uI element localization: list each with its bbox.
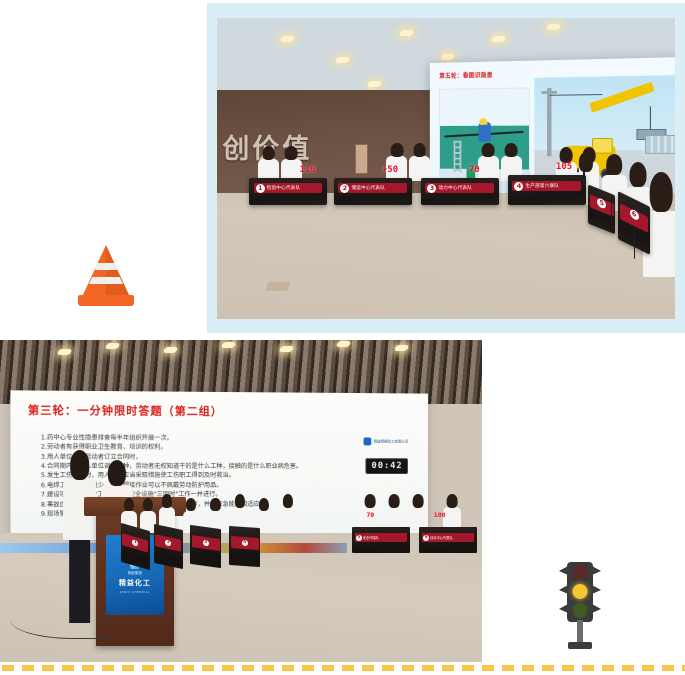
team-number: 5: [356, 535, 362, 541]
team-nameplate: 6: [620, 202, 648, 232]
corporate-logo: 精益精细化工有限公司: [364, 437, 408, 445]
divider-dash: [202, 665, 214, 671]
traffic-cone-icon: [76, 244, 136, 306]
team-desk: 3: [190, 525, 221, 568]
contestant: [280, 507, 296, 530]
ceiling-light: [105, 343, 120, 349]
cone-stripe-lower: [87, 277, 125, 284]
team-nameplate: 2 储运中心代表队: [338, 183, 407, 192]
divider-dash: [462, 665, 474, 671]
divider-dash: [602, 665, 614, 671]
traffic-light-red-lamp: [573, 565, 588, 580]
divider-dash: [322, 665, 334, 671]
team-nameplate: 4: [231, 536, 259, 550]
divider-dash: [162, 665, 174, 671]
contestant: [409, 156, 430, 180]
countdown-timer: 00:42: [366, 458, 409, 474]
team-score: 70: [469, 165, 480, 175]
divider-dash: [642, 665, 654, 671]
illustration-worker: [478, 122, 490, 142]
traffic-light-visor-right: [592, 566, 601, 575]
ceiling-light: [335, 57, 350, 63]
team-name: 动力中心代表队: [438, 185, 472, 191]
divider-dash: [562, 665, 574, 671]
team-name: 安全环保队: [363, 535, 379, 540]
team-nameplate: 3 动力中心代表队: [425, 183, 494, 192]
team-number: 3: [427, 184, 436, 193]
team-number: 2: [166, 539, 172, 546]
team-number: 2: [340, 184, 349, 193]
slide-line: 6.电焊工岗位作业量少，偶尔焊接作业可以不佩戴劳动防护用品。: [41, 480, 416, 490]
divider-dash: [442, 665, 454, 671]
slide-title-top: 第五轮：看图识隐患: [439, 69, 493, 79]
divider-dash: [102, 665, 114, 671]
divider-dash: [342, 665, 354, 671]
team-desk: 3 动力中心代表队: [421, 178, 499, 205]
podium-brand-en: JINGYI CHEMICAL: [120, 590, 150, 594]
team-nameplate: 1: [122, 533, 148, 553]
divider-dash: [242, 665, 254, 671]
divider-dash: [542, 665, 554, 671]
corporate-logo-text: 精益精细化工有限公司: [374, 439, 409, 444]
illustration-helmet: [479, 118, 487, 125]
divider-dash: [262, 665, 274, 671]
ceiling-light: [163, 347, 178, 353]
team-name: 技术中心代表队: [430, 535, 452, 540]
divider-dash: [362, 665, 374, 671]
ceiling-light: [394, 345, 409, 351]
team-name: 生产部第六联队: [525, 183, 559, 189]
illustration-storage-tanks: [645, 135, 675, 154]
contestant: [478, 156, 499, 180]
illustration-ladder: [454, 141, 462, 173]
slide-line: 1.药中心专业性隐患排查每半年组织开展一次。: [41, 433, 416, 444]
top-photo: 创价值 第五轮：看图识隐患: [217, 18, 675, 319]
ceiling-light: [280, 36, 295, 42]
traffic-light-housing: [567, 562, 593, 622]
team-number: 6: [423, 535, 429, 541]
team-nameplate: 5 安全环保队: [355, 533, 407, 541]
ceiling-light: [278, 346, 293, 352]
divider-dash: [82, 665, 94, 671]
team-name: 储运中心代表队: [351, 185, 385, 191]
team-name: 检验中心代表队: [267, 185, 301, 191]
divider-dash: [42, 665, 54, 671]
team-number: 1: [256, 184, 265, 193]
team-desk: 4: [229, 526, 260, 567]
divider-dash: [182, 665, 194, 671]
illustration-hook-line: [649, 107, 650, 131]
slide-line: 5.发生工伤事故时，用人单位应当采取措施使工伤职工得到及时救治。: [41, 471, 416, 481]
team-score: 100: [434, 511, 446, 519]
team-number: 4: [514, 182, 523, 191]
slide-title-bottom: 第三轮：一分钟限时答题（第二组）: [28, 401, 223, 418]
traffic-light-visor-right: [592, 585, 601, 594]
divider-dash: [582, 665, 594, 671]
team-score: +50: [382, 165, 398, 175]
team-desk: 4 生产部第六联队: [508, 175, 586, 205]
divider-dash: [302, 665, 314, 671]
bottom-photo: 第三轮：一分钟限时答题（第二组） 1.药中心专业性隐患排查每半年组织开展一次。 …: [0, 340, 482, 662]
traffic-light-base: [568, 642, 592, 649]
team-nameplate: 6 技术中心代表队: [422, 533, 474, 541]
team-number: 5: [597, 196, 606, 209]
divider-dash: [122, 665, 134, 671]
slide-line: 2.劳动者有获得职业卫生教育、培训的权利。: [41, 442, 416, 452]
floor-marker: [266, 282, 291, 291]
ceiling-light: [221, 342, 236, 348]
collage-page: 创价值 第五轮：看图识隐患: [0, 0, 685, 675]
ceiling-light: [440, 54, 455, 60]
team-desk: 2 储运中心代表队: [334, 178, 412, 205]
divider-dash: [222, 665, 234, 671]
divider-dash: [662, 665, 674, 671]
microphone: [583, 165, 585, 186]
team-score: 105: [556, 162, 572, 172]
traffic-light-visor-right: [592, 604, 601, 613]
team-desk: 1: [121, 523, 150, 570]
ceiling-light: [399, 30, 414, 36]
team-desk: 6 技术中心代表队: [419, 527, 477, 553]
divider-dash: [142, 665, 154, 671]
team-score: 110: [299, 165, 315, 175]
team-number: 6: [629, 207, 638, 220]
vertical-traffic-light-icon: [554, 562, 606, 650]
dashed-divider: [0, 663, 685, 672]
divider-dash: [482, 665, 494, 671]
podium-sub-brand: 畅能集团: [128, 571, 142, 576]
doorway: [355, 144, 368, 174]
team-desk: 2: [154, 524, 183, 569]
team-number: 3: [203, 540, 209, 547]
divider-dash: [622, 665, 634, 671]
team-score: 70: [366, 511, 374, 519]
divider-dash: [422, 665, 434, 671]
divider-dash: [22, 665, 34, 671]
divider-dash: [382, 665, 394, 671]
team-number: 4: [242, 540, 248, 546]
traffic-light-pole: [577, 620, 583, 644]
ceiling-light: [336, 341, 351, 347]
team-number: 1: [132, 539, 138, 547]
ceiling-light: [546, 24, 561, 30]
slide-line: 4.合同期内，用人单位调换工种，劳动者无权知道干的是什么工种，接触的是什么职业病…: [41, 461, 416, 471]
ceiling-light: [367, 81, 382, 87]
corporate-logo-mark: [364, 437, 372, 445]
team-nameplate: 1 检验中心代表队: [254, 183, 323, 192]
ceiling-light: [491, 36, 506, 42]
podium-brand: 精益化工: [119, 578, 151, 588]
divider-dash: [62, 665, 74, 671]
traffic-light-amber-lamp: [573, 584, 588, 599]
divider-dash: [2, 665, 14, 671]
ceiling-light: [57, 349, 72, 355]
cone-base: [78, 295, 134, 306]
slide-line: 3.用人单位在和劳动者订立合同时，: [41, 452, 416, 462]
divider-dash: [522, 665, 534, 671]
team-desk: 1 检验中心代表队: [249, 178, 327, 205]
top-photo-mat: 创价值 第五轮：看图识隐患: [207, 3, 685, 333]
divider-dash: [502, 665, 514, 671]
illustration-pylon-arm: [541, 91, 557, 94]
team-desk: 5 安全环保队: [352, 527, 410, 553]
team-nameplate: 4 生产部第六联队: [512, 181, 581, 191]
cone-shading: [106, 245, 130, 297]
divider-dash: [402, 665, 414, 671]
team-nameplate: 3: [192, 535, 220, 551]
team-nameplate: 2: [156, 534, 182, 552]
divider-dash: [282, 665, 294, 671]
traffic-light-green-lamp: [573, 603, 588, 618]
